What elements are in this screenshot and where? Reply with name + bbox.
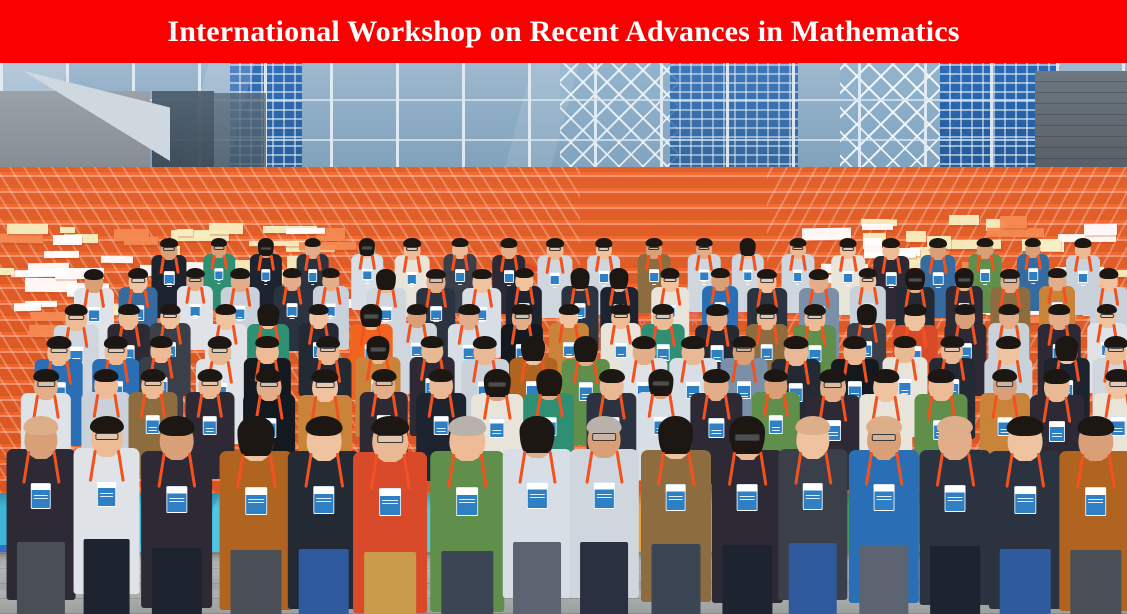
attendee-hair (150, 336, 173, 348)
attendee-glasses (406, 247, 418, 251)
attendee-lanyard (662, 452, 690, 486)
attendee-hair (536, 369, 562, 396)
title-banner: International Workshop on Recent Advance… (0, 0, 1127, 63)
attendee-legs (930, 546, 980, 614)
attendee-lanyard (143, 394, 162, 418)
attendee-lanyard (376, 454, 405, 490)
attendee-hair (882, 238, 900, 248)
attendee (778, 415, 847, 606)
attendee-hair (599, 369, 625, 383)
attendee (849, 415, 919, 609)
attendee-glasses (656, 314, 671, 319)
attendee-crowd (0, 63, 1127, 614)
attendee-hair (23, 416, 58, 435)
attendee-glasses (69, 315, 84, 320)
attendee-legs (580, 542, 628, 614)
attendee-glasses (792, 247, 803, 251)
attendee-hair (610, 268, 629, 289)
attendee-hair (158, 416, 195, 436)
attendee-name-badge (1078, 270, 1088, 283)
attendee-hair (94, 369, 119, 383)
attendee (141, 415, 213, 613)
attendee-glasses (214, 246, 225, 249)
attendee-hair (1075, 238, 1092, 247)
attendee-glasses (807, 315, 822, 320)
attendee-glasses (131, 278, 145, 282)
attendee (430, 415, 504, 614)
attendee-hair (520, 416, 555, 453)
attendee-glasses (872, 434, 896, 442)
attendee-hair (1048, 268, 1066, 278)
attendee-hair (703, 369, 729, 383)
attendee-legs (1000, 549, 1051, 614)
attendee-hair (473, 336, 497, 349)
attendee (641, 415, 711, 608)
attendee-hair (739, 238, 756, 256)
attendee-hair (843, 336, 867, 349)
attendee-name-badge (737, 484, 758, 511)
attendee-hair (795, 416, 830, 435)
attendee-glasses (652, 381, 669, 386)
screenshot-root: International Workshop on Recent Advance… (0, 0, 1127, 614)
attendee-glasses (592, 433, 616, 441)
attendee-hair (1007, 416, 1044, 436)
attendee-name-badge (166, 486, 187, 514)
attendee-glasses (1110, 381, 1127, 386)
attendee-glasses (1004, 278, 1018, 282)
attendee-glasses (37, 381, 54, 387)
attendee-hair (283, 268, 302, 278)
attendee-name-badge (245, 487, 267, 515)
attendee (989, 415, 1061, 614)
attendee-hair (809, 269, 829, 280)
attendee (220, 415, 293, 614)
attendee-glasses (760, 278, 774, 282)
attendee-hair (304, 238, 321, 247)
attendee-lanyard (591, 451, 618, 484)
attendee-lanyard (200, 394, 219, 418)
attendee-hair (1043, 369, 1071, 384)
attendee-legs (859, 545, 908, 614)
attendee-hair (448, 416, 486, 436)
attendee-hair (904, 304, 927, 316)
attendee-hair (711, 268, 729, 278)
attendee-hair (371, 416, 409, 436)
attendee-hair (573, 336, 598, 362)
attendee-hair (421, 336, 444, 348)
attendee-lanyard (766, 394, 785, 417)
attendee-hair (305, 416, 342, 436)
attendee-glasses (996, 381, 1014, 387)
attendee-name-badge (550, 272, 560, 286)
attendee-name-badge (190, 303, 201, 317)
attendee-hair (893, 336, 916, 348)
attendee-name-badge (1015, 486, 1036, 514)
attendee-hair (376, 269, 396, 291)
attendee-lanyard (1081, 454, 1110, 489)
attendee-glasses (488, 382, 506, 388)
attendee-lanyard (1011, 453, 1040, 488)
attendee-glasses (163, 314, 177, 318)
attendee-lanyard (27, 451, 54, 484)
attendee-legs (723, 545, 772, 614)
attendee-hair (311, 369, 338, 384)
attendee-glasses (50, 348, 67, 353)
attendee (920, 415, 991, 611)
attendee (288, 415, 360, 614)
attendee-lanyard (93, 450, 119, 482)
attendee-glasses (549, 247, 561, 251)
attendee-hair (998, 304, 1019, 315)
attendee-hair (681, 336, 705, 349)
attendee-hair (955, 304, 976, 315)
attendee-glasses (260, 247, 271, 251)
attendee-glasses (1100, 314, 1114, 318)
attendee-glasses (362, 246, 373, 249)
attendee-glasses (842, 247, 854, 251)
attendee-hair (215, 304, 237, 316)
attendee-glasses (1108, 347, 1124, 352)
attendee-hair (500, 238, 517, 247)
attendee-name-badge (1085, 487, 1107, 516)
attendee-glasses (760, 314, 775, 319)
attendee (570, 415, 638, 604)
attendee-legs (17, 542, 65, 614)
attendee-glasses (201, 381, 218, 386)
attendee-lanyard (870, 452, 898, 486)
attendee-glasses (698, 247, 709, 251)
attendee-name-badge (164, 271, 174, 285)
attendee-glasses (189, 278, 202, 282)
attendee-lanyard (162, 453, 190, 488)
attendee-hair (458, 304, 480, 316)
attendee-hair (929, 238, 947, 248)
attendee (6, 415, 75, 605)
page-title: International Workshop on Recent Advance… (167, 17, 959, 47)
attendee-glasses (862, 278, 875, 282)
attendee-name-badge (665, 484, 686, 511)
attendee-hair (928, 369, 955, 384)
attendee-glasses (144, 381, 161, 386)
attendee-legs (513, 542, 561, 614)
attendee-name-badge (313, 486, 334, 514)
attendee-hair (632, 336, 656, 349)
attendee-glasses (377, 435, 403, 443)
attendee-hair (559, 304, 580, 315)
attendee-hair (308, 304, 329, 315)
attendee-hair (515, 268, 534, 278)
attendee-hair (571, 268, 590, 288)
attendee-lanyard (941, 453, 969, 487)
attendee-glasses (95, 433, 118, 440)
attendee-lanyard (374, 394, 393, 417)
attendee-hair (658, 416, 694, 454)
attendee-glasses (598, 247, 610, 251)
attendee-glasses (664, 278, 677, 282)
attendee-name-badge (379, 488, 401, 517)
attendee-name-badge (31, 483, 51, 510)
attendee-glasses (375, 381, 392, 386)
attendee-hair (783, 336, 808, 350)
attendee-hair (428, 369, 453, 383)
attendee-legs (151, 548, 201, 614)
attendee-glasses (944, 347, 960, 352)
attendee-glasses (823, 382, 842, 388)
attendee-hair (819, 369, 847, 384)
attendee (1059, 415, 1127, 614)
attendee-legs (1070, 550, 1121, 614)
attendee-hair (763, 369, 788, 382)
attendee-glasses (648, 247, 659, 251)
attendee-hair (451, 238, 468, 247)
attendee-hair (937, 416, 973, 436)
attendee-lanyard (524, 451, 551, 484)
attendee-hair (1099, 268, 1118, 279)
attendee-hair (118, 304, 140, 316)
attendee-hair (472, 269, 492, 280)
attendee-hair (856, 304, 876, 326)
attendee-glasses (260, 382, 278, 388)
attendee-lanyard (310, 453, 339, 488)
attendee-legs (651, 544, 700, 614)
group-photo: 71 北京航空航天大学 BEIHANG UNIVERSITY (0, 63, 1127, 614)
attendee-glasses (958, 278, 971, 282)
attendee-lanyard (242, 454, 271, 489)
attendee-hair (322, 268, 341, 278)
attendee (712, 415, 782, 609)
attendee-name-badge (945, 485, 966, 513)
attendee (73, 415, 140, 600)
attendee (503, 415, 572, 604)
attendee-hair (89, 416, 123, 434)
attendee-hair (977, 238, 994, 247)
attendee-name-badge (456, 487, 478, 516)
attendee-hair (872, 369, 899, 384)
attendee-hair (1048, 304, 1070, 316)
attendee-glasses (364, 314, 379, 319)
attendee-legs (441, 551, 492, 614)
attendee-lanyard (799, 452, 826, 485)
attendee-glasses (735, 434, 759, 442)
attendee-glasses (908, 278, 922, 282)
attendee-hair (255, 336, 279, 349)
attendee-hair (1055, 336, 1079, 361)
attendee-legs (299, 549, 350, 614)
attendee-hair (706, 304, 728, 316)
attendee-glasses (515, 314, 530, 319)
attendee-hair (84, 269, 104, 280)
attendee-hair (1025, 238, 1041, 247)
attendee-name-badge (97, 481, 117, 507)
attendee-hair (521, 336, 545, 362)
attendee-hair (238, 416, 275, 456)
attendee-name-badge (527, 482, 547, 509)
attendee-hair (866, 416, 902, 435)
attendee-glasses (163, 247, 175, 251)
attendee-glasses (736, 347, 752, 352)
attendee-glasses (211, 348, 228, 353)
attendee-hair (587, 416, 622, 435)
attendee-glasses (108, 348, 125, 353)
attendee-name-badge (874, 484, 895, 511)
attendee-hair (230, 268, 250, 279)
attendee-glasses (371, 347, 387, 352)
attendee-glasses (614, 314, 628, 318)
attendee-name-badge (261, 269, 271, 282)
attendee-hair (407, 304, 428, 315)
attendee (353, 415, 427, 614)
attendee-lanyard (734, 452, 762, 486)
attendee-glasses (316, 382, 335, 388)
attendee-hair (996, 336, 1020, 349)
attendee-hair (1077, 416, 1114, 436)
attendee-legs (789, 543, 838, 614)
attendee-name-badge (803, 483, 824, 510)
attendee-glasses (320, 347, 336, 352)
attendee-hair (258, 304, 279, 327)
attendee-lanyard (453, 454, 482, 489)
attendee-glasses (429, 278, 443, 282)
attendee-name-badge (594, 482, 614, 509)
attendee-legs (364, 552, 416, 614)
attendee-legs (83, 539, 130, 614)
attendee-legs (231, 550, 282, 614)
